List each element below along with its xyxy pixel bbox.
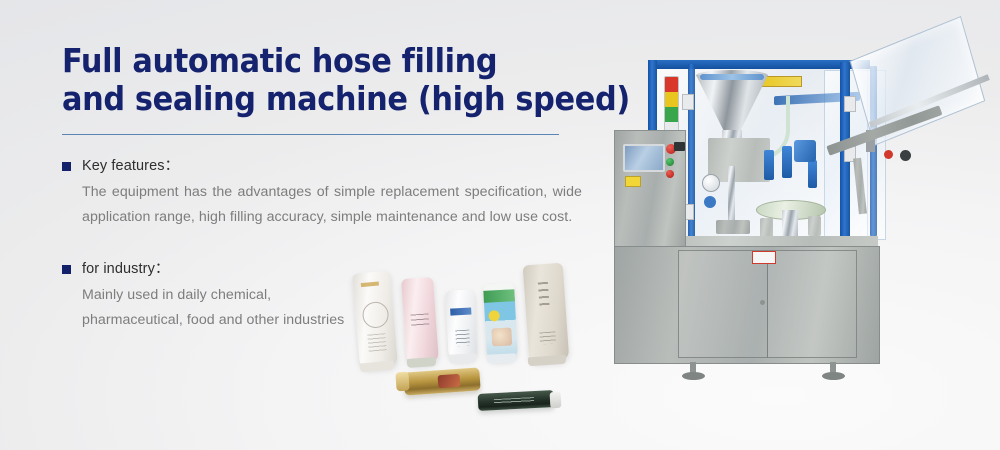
nozzle-holder — [716, 220, 750, 234]
green-push-button — [666, 158, 674, 166]
tube-cap — [528, 355, 567, 367]
red-push-button — [666, 170, 674, 178]
filling-nozzle — [728, 166, 735, 220]
selector-switch — [674, 142, 685, 151]
title-line-1: Full automatic hose filling — [62, 42, 540, 80]
tube-artwork — [491, 327, 512, 346]
list-item — [352, 271, 398, 370]
key-features-body: The equipment has the advantages of simp… — [82, 180, 582, 230]
tube-cap — [487, 353, 516, 364]
tube-label-mark — [438, 374, 461, 389]
tower-red-lamp — [665, 77, 678, 92]
tube-cap — [360, 361, 395, 373]
list-item — [478, 390, 555, 411]
frame-latch — [682, 94, 694, 110]
hopper-clamp — [700, 74, 764, 80]
for-industry-heading: for industry： — [82, 260, 170, 278]
list-item — [445, 289, 478, 360]
tube-label-mark — [361, 282, 379, 288]
product-banner: Full automatic hose filling and sealing … — [0, 0, 1000, 450]
tube-text-lines — [538, 282, 550, 309]
conveyor-knob — [900, 150, 911, 161]
tube-brand-band — [450, 307, 471, 315]
gauge-knob — [704, 196, 716, 208]
pneumatic-cylinder — [764, 150, 774, 180]
tower-yellow-lamp — [665, 92, 678, 107]
pressure-gauge — [702, 174, 720, 192]
key-features-block: Key features： The equipment has the adva… — [62, 157, 582, 230]
hose-tube-samples — [352, 258, 604, 418]
signal-tower-light — [664, 76, 679, 132]
ce-warning-label — [625, 176, 641, 187]
list-item — [483, 283, 518, 361]
tube-text-lines — [539, 331, 556, 344]
tube-brand-band — [483, 289, 515, 303]
key-features-heading-row: Key features： — [62, 157, 582, 175]
list-item — [401, 277, 439, 365]
page-title: Full automatic hose filling and sealing … — [62, 42, 540, 118]
machine-photo — [612, 34, 984, 394]
dosing-unit — [708, 138, 770, 182]
tube-text-lines — [494, 397, 534, 404]
tube-graphic — [455, 330, 470, 347]
square-bullet-icon — [62, 265, 71, 274]
cabinet-door-right — [767, 250, 857, 358]
frame-top-bar — [648, 60, 870, 69]
title-line-2: and sealing machine (high speed) — [62, 80, 540, 118]
pneumatic-cylinder — [782, 146, 792, 178]
tube-cap — [550, 392, 562, 409]
cabinet-safety-label — [752, 251, 776, 264]
key-features-heading: Key features： — [82, 157, 179, 175]
list-item — [523, 263, 570, 364]
pneumatic-cylinder — [808, 160, 817, 188]
cabinet-door-left — [678, 250, 768, 358]
title-divider — [62, 134, 559, 135]
hmi-touchscreen — [623, 144, 665, 172]
frame-latch — [844, 96, 856, 112]
for-industry-body: Mainly used in daily chemical, pharmaceu… — [82, 283, 350, 333]
tube-text-lines — [367, 333, 387, 353]
leveling-foot-pad — [682, 372, 705, 380]
tube-cap — [395, 372, 409, 392]
tower-green-lamp — [665, 107, 678, 122]
sealing-head — [794, 140, 816, 162]
tube-holder-cup — [760, 218, 773, 238]
warning-sticker — [762, 76, 802, 87]
tube-graphic — [361, 301, 389, 329]
tube-holder-cup — [808, 216, 821, 236]
tube-cap — [449, 353, 476, 363]
leveling-foot-pad — [822, 372, 845, 380]
list-item — [403, 367, 480, 395]
tube-text-lines — [411, 313, 430, 326]
cabinet-door-handle — [760, 300, 765, 305]
turntable-column — [782, 210, 798, 238]
tube-cap — [407, 357, 437, 368]
square-bullet-icon — [62, 162, 71, 171]
conveyor-sensor — [884, 150, 893, 159]
tube-badge — [488, 310, 500, 322]
